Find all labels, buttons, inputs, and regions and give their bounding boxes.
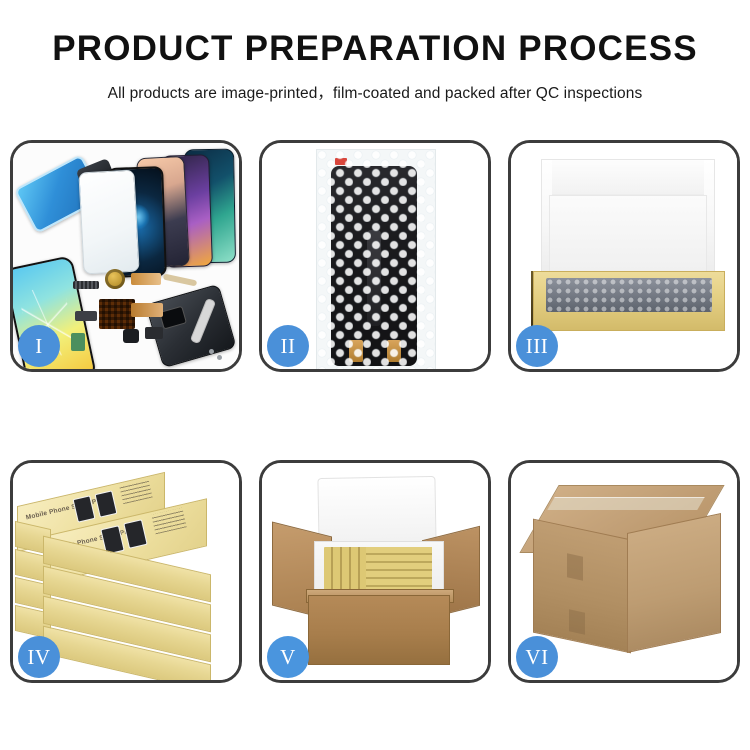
sim-tray-part — [71, 333, 85, 351]
carton-right-panel — [627, 513, 721, 653]
flex-cable-part-1 — [131, 273, 161, 285]
process-step-card-1: I — [10, 140, 242, 372]
step-badge-3: III — [516, 325, 558, 367]
bubble-wrap-bag — [316, 149, 436, 369]
step-badge-2: II — [267, 325, 309, 367]
process-step-card-5: V — [259, 460, 491, 683]
process-step-card-4: Mobile Phone Spare Parts Mobile Phone Sp… — [10, 460, 242, 683]
screw-grid-part — [99, 299, 135, 329]
process-step-card-2: II — [259, 140, 491, 372]
carton-seam-lower — [569, 609, 585, 634]
process-step-card-6: VI — [508, 460, 740, 683]
glass-screen-protector — [78, 170, 139, 275]
bubble-texture-overlay — [317, 150, 435, 369]
foam-box-lid — [317, 476, 436, 548]
connector-strip-part — [73, 281, 99, 289]
screw-part-1 — [209, 349, 214, 354]
yellow-boxes-contents-second — [366, 547, 432, 593]
camera-module-part — [123, 329, 139, 343]
flex-cable-part-2 — [131, 303, 163, 317]
ribbon-cable-part — [163, 274, 198, 287]
page-header: PRODUCT PREPARATION PROCESS All products… — [0, 0, 750, 103]
process-steps-grid: I II — [10, 140, 740, 683]
packing-tape — [547, 497, 705, 510]
carton-front-panel — [308, 595, 450, 665]
phone-back-housing — [145, 284, 236, 368]
step-badge-5: V — [267, 636, 309, 678]
speaker-part — [145, 327, 163, 339]
copper-coil-part — [105, 269, 125, 289]
step-badge-4: IV — [18, 636, 60, 678]
button-part — [75, 311, 97, 321]
step-badge-1: I — [18, 325, 60, 367]
page-title: PRODUCT PREPARATION PROCESS — [0, 30, 750, 69]
process-step-card-3: III — [508, 140, 740, 372]
page-subtitle: All products are image-printed，film-coat… — [0, 81, 750, 103]
carton-seam-upper — [567, 553, 583, 580]
screw-part-2 — [217, 355, 222, 360]
kraft-box-tray — [533, 271, 725, 331]
grey-bubble-padding — [546, 278, 712, 312]
foam-sheet — [549, 195, 707, 273]
step-badge-6: VI — [516, 636, 558, 678]
